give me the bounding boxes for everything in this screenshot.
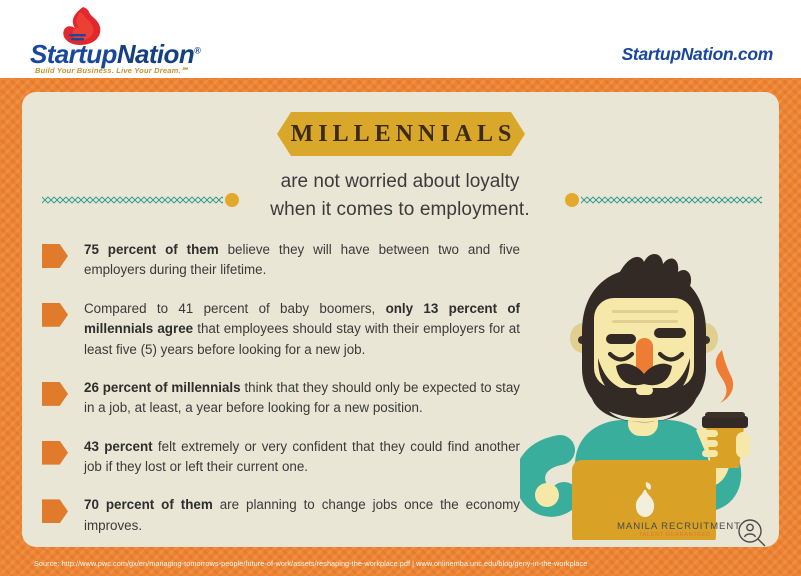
list-item: 43 percent felt extremely or very confid… <box>42 437 520 478</box>
zigzag-line-right <box>581 196 762 204</box>
list-item-text: Compared to 41 percent of baby boomers, … <box>84 299 520 360</box>
brand-part-startup: Startup <box>30 39 117 69</box>
manila-recruitment-name: MANILA RECRUITMENT <box>617 521 741 532</box>
manila-recruitment-logo[interactable]: MANILA RECRUITMENT TALENT GUARANTEED <box>617 519 767 549</box>
decorative-rule-right <box>565 193 762 207</box>
infographic-root: StartupNation® Build Your Business. Live… <box>0 0 801 576</box>
list-item-text: 26 percent of millennials think that the… <box>84 378 520 419</box>
registered-mark: ® <box>194 45 200 55</box>
stat-lead: 75 percent of them <box>84 242 219 257</box>
list-item-text: 70 percent of them are planning to chang… <box>84 495 520 536</box>
arrow-bullet-icon <box>42 382 68 406</box>
arrow-bullet-icon <box>42 244 68 268</box>
zigzag-line-left <box>42 196 223 204</box>
arrow-bullet-icon <box>42 303 68 327</box>
page-header: StartupNation® Build Your Business. Live… <box>0 0 801 78</box>
stat-lead: 43 percent <box>84 439 153 454</box>
gold-dot-left <box>225 193 239 207</box>
stat-lead: 26 percent of millennials <box>84 380 241 395</box>
banner-title: MILLENNIALS <box>277 112 525 156</box>
brand-tagline: Build Your Business. Live Your Dream.℠ <box>35 66 189 75</box>
source-citation: Source: http://www.pwc.com/gx/en/managin… <box>34 559 587 568</box>
stat-lead: 70 percent of them <box>84 497 213 512</box>
manila-recruitment-tagline: TALENT GUARANTEED <box>639 532 711 538</box>
person-magnifier-icon <box>737 518 767 548</box>
arrow-bullet-icon <box>42 441 68 465</box>
gold-dot-right <box>565 193 579 207</box>
illustration-bearded-man <box>520 250 770 540</box>
site-url-link[interactable]: StartupNation.com <box>622 44 773 65</box>
list-item: 70 percent of them are planning to chang… <box>42 495 520 536</box>
list-item: 75 percent of them believe they will hav… <box>42 240 520 281</box>
subtitle-line-1: are not worried about loyalty <box>150 168 650 196</box>
list-item-text: 43 percent felt extremely or very confid… <box>84 437 520 478</box>
title-banner: MILLENNIALS <box>277 112 525 156</box>
startupnation-logo[interactable]: StartupNation® Build Your Business. Live… <box>30 6 210 72</box>
stats-list: 75 percent of them believe they will hav… <box>42 240 520 554</box>
list-item: Compared to 41 percent of baby boomers, … <box>42 299 520 360</box>
list-item-text: 75 percent of them believe they will hav… <box>84 240 520 281</box>
decorative-rule-left <box>42 193 239 207</box>
arrow-bullet-icon <box>42 499 68 523</box>
brand-part-nation: Nation <box>117 39 194 69</box>
list-item: 26 percent of millennials think that the… <box>42 378 520 419</box>
stat-pre: Compared to 41 percent of baby boomers, <box>84 301 386 316</box>
